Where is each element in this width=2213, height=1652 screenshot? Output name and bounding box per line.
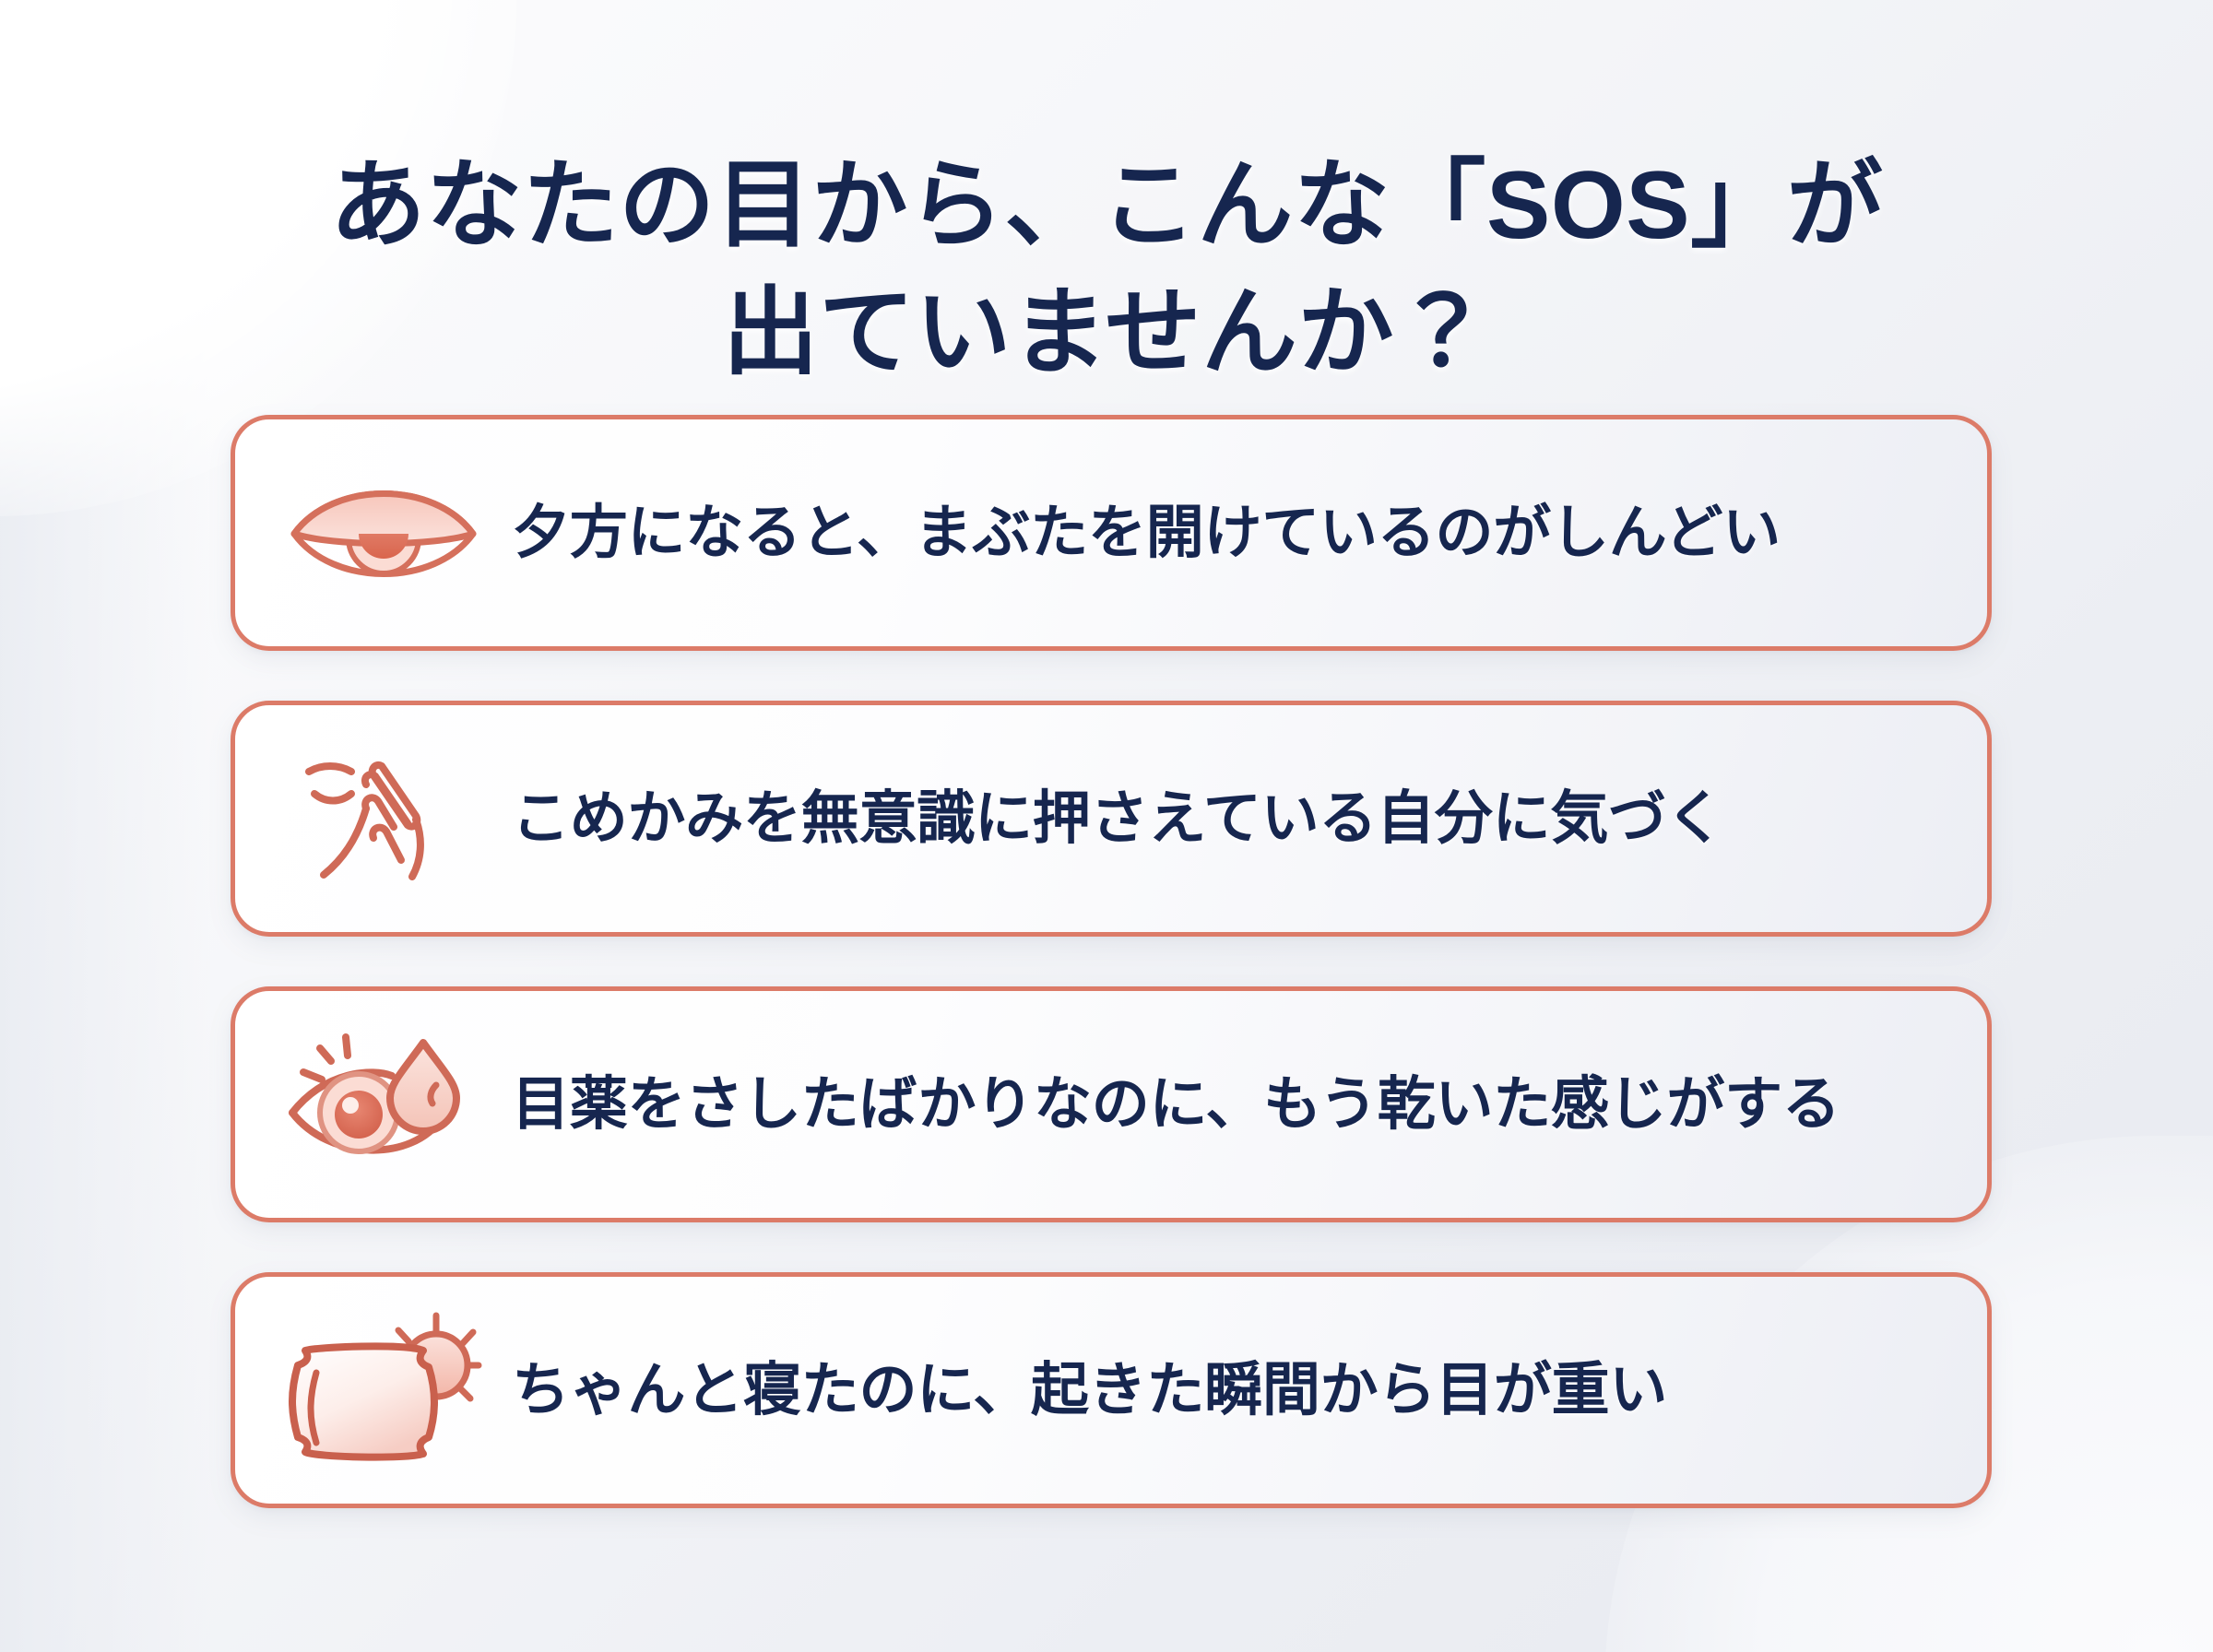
pillow-with-sunrise-icon <box>278 1303 490 1478</box>
symptom-card-label: 目薬をさしたばかりなのに、もう乾いた感じがする <box>490 1070 1945 1139</box>
symptom-card-list: 夕方になると、まぶたを開けているのがしんどい <box>231 415 1992 1508</box>
symptom-card[interactable]: 夕方になると、まぶたを開けているのがしんどい <box>231 415 1992 651</box>
symptom-card[interactable]: ちゃんと寝たのに、起きた瞬間から目が重い <box>231 1272 1992 1508</box>
symptom-card[interactable]: こめかみを無意識に押さえている自分に気づく <box>231 701 1992 937</box>
symptom-card-label: 夕方になると、まぶたを開けているのがしんどい <box>490 499 1945 567</box>
hand-pressing-temple-icon <box>278 731 490 906</box>
poster-canvas: あなたの目から、こんな「SOS」が 出ていませんか？ <box>0 0 2213 1652</box>
symptom-card[interactable]: 目薬をさしたばかりなのに、もう乾いた感じがする <box>231 986 1992 1222</box>
symptom-card-label: ちゃんと寝たのに、起きた瞬間から目が重い <box>490 1356 1945 1424</box>
page-title: あなたの目から、こんな「SOS」が 出ていませんか？ <box>0 142 2213 397</box>
symptom-card-label: こめかみを無意識に押さえている自分に気づく <box>490 785 1945 853</box>
dry-eye-with-teardrop-icon <box>278 1017 490 1192</box>
droopy-eyelid-icon <box>278 445 490 620</box>
